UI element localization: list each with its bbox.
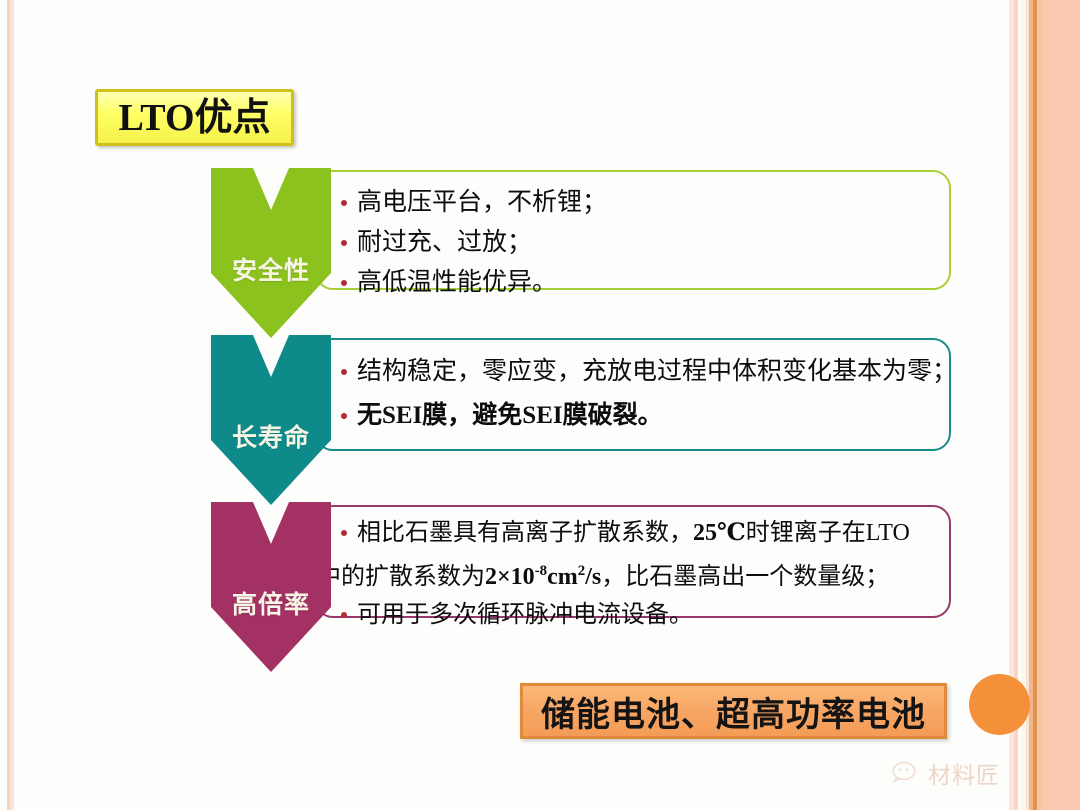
callout-box-lifespan: 结构稳定，零应变，充放电过程中体积变化基本为零； 无SEI膜，避免SEI膜破裂。	[315, 338, 951, 451]
wechat-icon-shape	[892, 761, 922, 785]
rate-line1-temp: 25℃	[693, 520, 746, 546]
right-edge-stripe-9	[1043, 0, 1080, 810]
accent-circle-decoration	[969, 674, 1030, 735]
slide-canvas: LTO优点 高电压平台，不析锂； 耐过充、过放； 高低温性能优异。 安全性 结构…	[0, 0, 1080, 810]
bullet-list-rate: 相比石墨具有高离子扩散系数，25℃时锂离子在LTO 中的扩散系数为2×10-8c…	[335, 514, 949, 634]
chevron-label-rate: 高倍率	[232, 585, 310, 621]
bottom-banner: 储能电池、超高功率电池	[520, 683, 947, 739]
page-title: LTO优点	[118, 99, 270, 137]
wechat-icon	[892, 761, 922, 785]
callout-box-safety: 高电压平台，不析锂； 耐过充、过放； 高低温性能优异。	[315, 170, 951, 290]
list-item: 可用于多次循环脉冲电流设备。	[335, 596, 949, 634]
list-item: 结构稳定，零应变，充放电过程中体积变化基本为零；	[335, 350, 949, 394]
list-item: 中的扩散系数为2×10-8cm2/s，比石墨高出一个数量级；	[317, 552, 949, 596]
chevron-lifespan: 长寿命	[211, 335, 331, 505]
slide-title-chip: LTO优点	[95, 89, 294, 146]
rate-formula-unit-base: cm	[547, 564, 578, 590]
callout-box-rate: 相比石墨具有高离子扩散系数，25℃时锂离子在LTO 中的扩散系数为2×10-8c…	[315, 505, 951, 618]
left-edge-stripe-inner	[10, 0, 14, 810]
rate-formula-base: 2×10	[485, 564, 535, 590]
bottom-banner-text: 储能电池、超高功率电池	[541, 687, 926, 736]
chevron-label-lifespan: 长寿命	[232, 418, 310, 454]
watermark: 材料匠	[892, 756, 1000, 790]
chevron-label-safety: 安全性	[232, 251, 310, 287]
bullet-list-safety: 高电压平台，不析锂； 耐过充、过放； 高低温性能优异。	[335, 183, 949, 303]
rate-line1-prefix: 相比石墨具有高离子扩散系数，	[357, 520, 693, 546]
rate-formula-prefix: 中的扩散系数为	[317, 564, 485, 590]
list-item: 高电压平台，不析锂；	[335, 183, 949, 223]
chevron-rate: 高倍率	[211, 502, 331, 672]
list-item: 相比石墨具有高离子扩散系数，25℃时锂离子在LTO	[335, 514, 949, 552]
list-item: 耐过充、过放；	[335, 223, 949, 263]
rate-line1-suffix: 时锂离子在LTO	[746, 520, 910, 546]
list-item: 无SEI膜，避免SEI膜破裂。	[335, 394, 949, 438]
rate-formula-suffix: ，比石墨高出一个数量级；	[601, 564, 889, 590]
list-item-text: 无SEI膜，避免SEI膜破裂。	[357, 402, 663, 429]
bullet-list-lifespan: 结构稳定，零应变，充放电过程中体积变化基本为零； 无SEI膜，避免SEI膜破裂。	[335, 350, 949, 438]
rate-formula-unit-suffix: /s	[585, 564, 601, 590]
watermark-text: 材料匠	[928, 756, 1000, 790]
rate-formula-exponent: -8	[535, 563, 547, 579]
list-item: 高低温性能优异。	[335, 263, 949, 303]
chevron-safety: 安全性	[211, 168, 331, 338]
